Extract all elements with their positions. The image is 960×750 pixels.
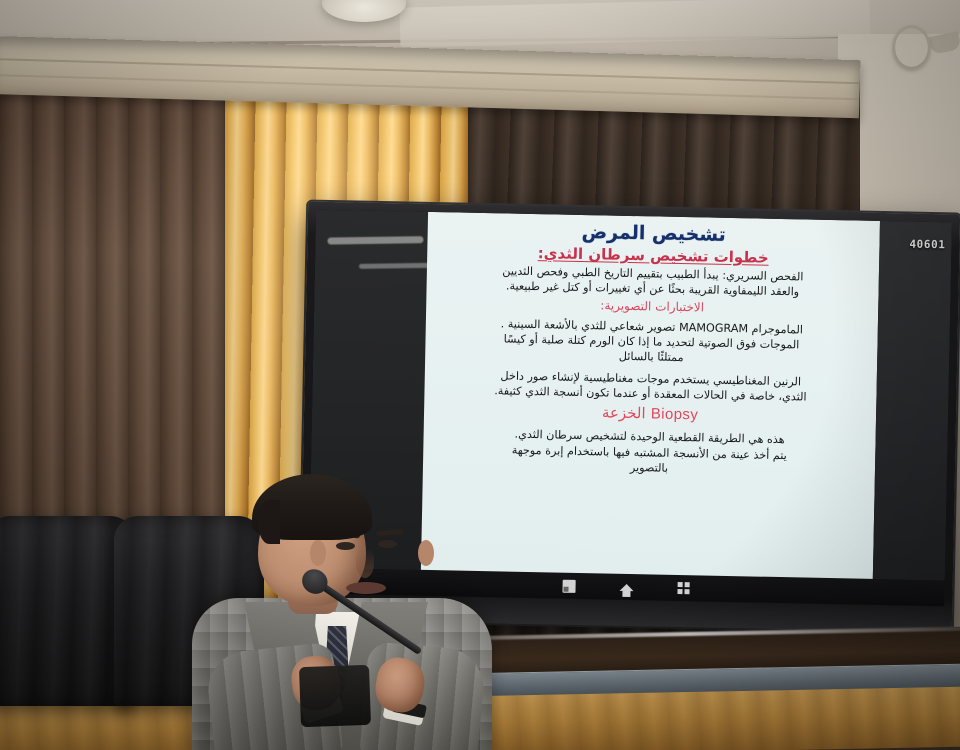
eyebrow-right — [376, 529, 404, 536]
ear-left — [310, 540, 326, 566]
eye-left — [336, 542, 355, 550]
lecture-hall-photo: تشخيص المرض خطوات تشخيص سرطان الثدي: الف… — [0, 0, 960, 750]
display-right-letterbox — [872, 221, 952, 606]
valance-groove-top — [0, 58, 860, 84]
display-bezel-code: 40601 — [909, 238, 945, 252]
microphone-base — [299, 665, 371, 727]
apps-grid-icon[interactable] — [677, 581, 690, 594]
biopsy-arabic-label: الخزعة — [602, 404, 646, 423]
ear-right — [418, 540, 434, 566]
screen-glare-streak — [359, 263, 437, 269]
eye-right — [378, 540, 397, 548]
recent-apps-icon[interactable] — [562, 579, 575, 592]
wall-speaker-icon — [895, 28, 928, 67]
nose — [356, 548, 374, 578]
home-icon[interactable] — [620, 583, 634, 590]
screen-glare-streak — [327, 236, 423, 244]
biopsy-english-label: Biopsy — [651, 406, 699, 424]
presentation-slide: تشخيص المرض خطوات تشخيص سرطان الثدي: الف… — [421, 212, 880, 583]
presenter-hair — [252, 474, 372, 540]
mouth — [346, 582, 386, 594]
